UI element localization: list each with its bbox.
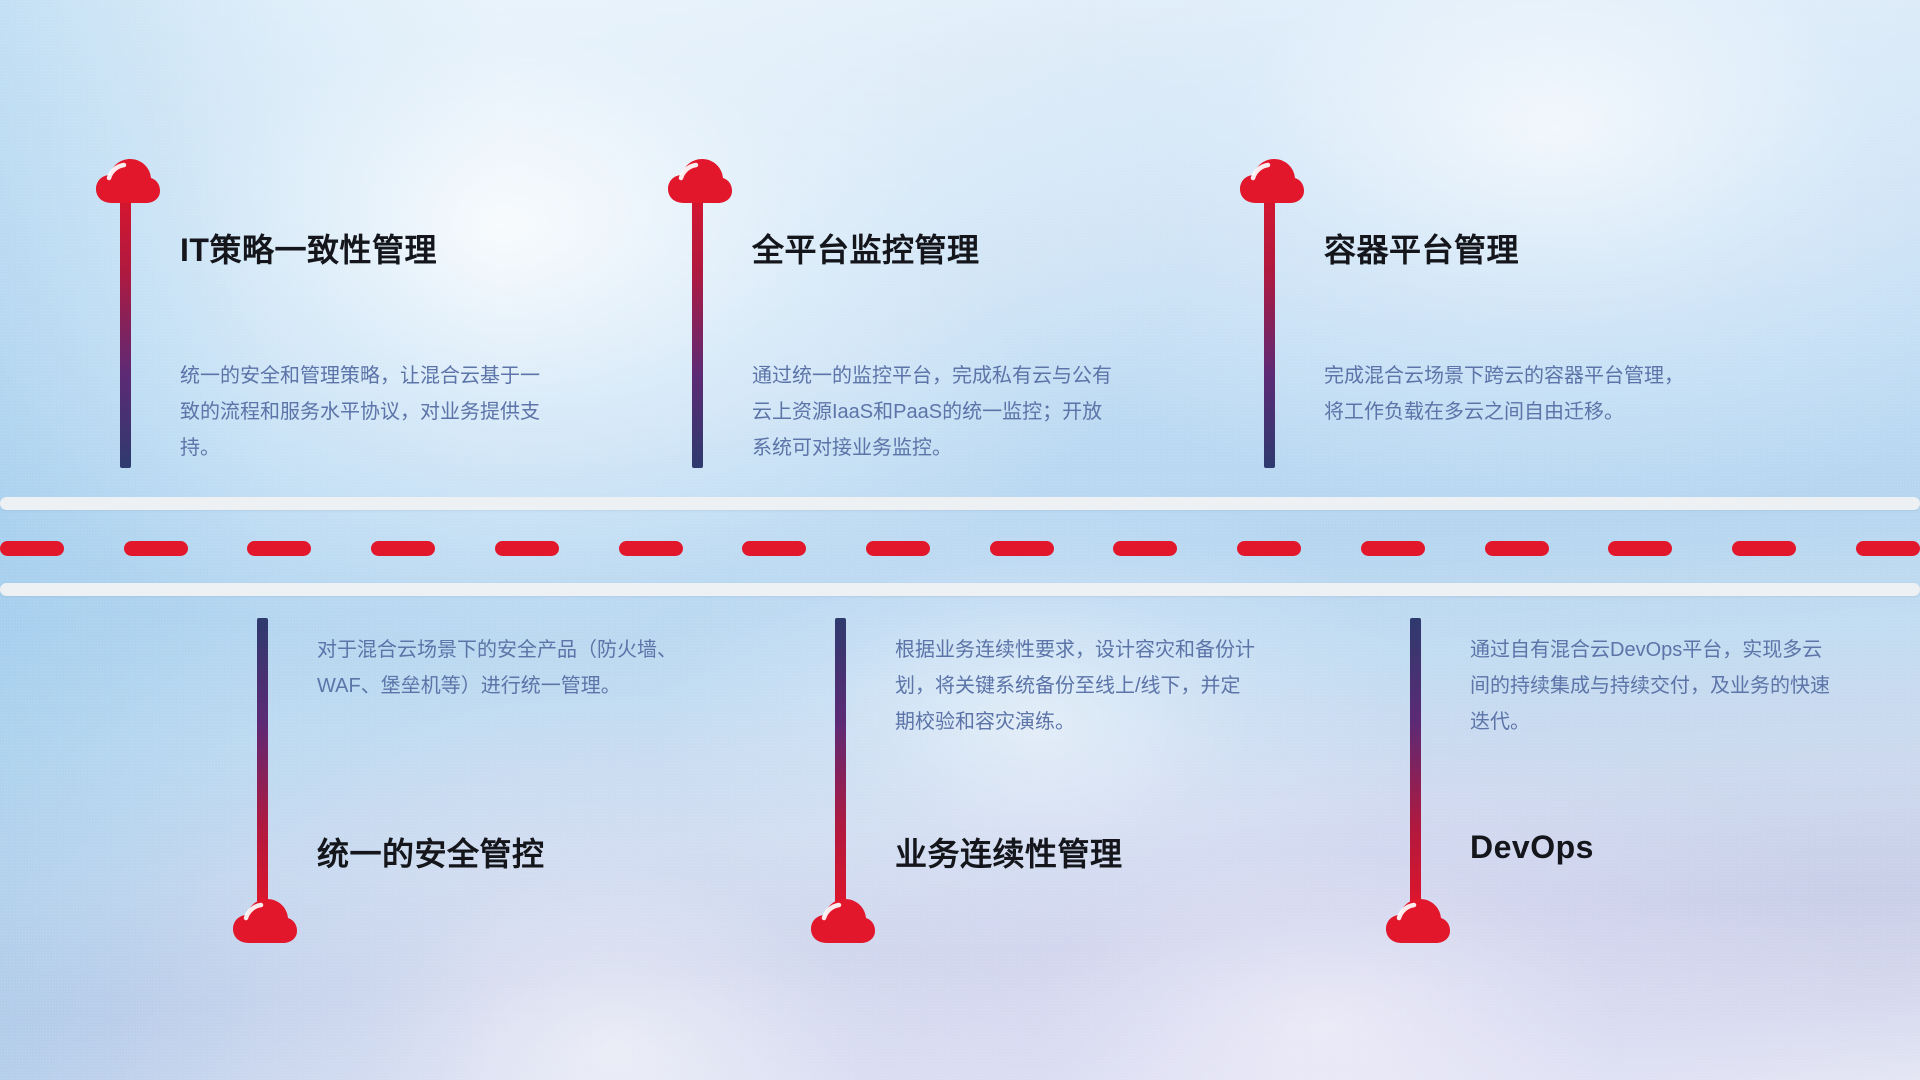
card-title-devops: DevOps [1470, 829, 1594, 866]
pole-it-policy-consistency [120, 178, 131, 468]
card-body-it-policy-consistency: 统一的安全和管理策略，让混合云基于一致的流程和服务水平协议，对业务提供支持。 [180, 358, 540, 466]
card-body-devops: 通过自有混合云DevOps平台，实现多云间的持续集成与持续交付，及业务的快速迭代… [1470, 632, 1830, 740]
road-dash [1608, 541, 1672, 556]
pole-devops [1410, 618, 1421, 908]
cloud-marker-icon-unified-security-control [232, 898, 298, 946]
road-center-dashed-line [0, 541, 1920, 556]
card-body-business-continuity: 根据业务连续性要求，设计容灾和备份计划，将关键系统备份至线上/线下，并定期校验和… [895, 632, 1255, 740]
infographic-canvas: IT策略一致性管理 统一的安全和管理策略，让混合云基于一致的流程和服务水平协议，… [0, 0, 1920, 1080]
card-title-full-platform-monitoring: 全平台监控管理 [752, 225, 980, 271]
card-title-unified-security-control: 统一的安全管控 [317, 829, 545, 875]
pole-full-platform-monitoring [692, 178, 703, 468]
road-dash [124, 541, 188, 556]
road-dash [990, 541, 1054, 556]
card-title-business-continuity: 业务连续性管理 [895, 829, 1123, 875]
road-edge-line-top [0, 497, 1920, 510]
road-dash [619, 541, 683, 556]
cloud-marker-icon-it-policy-consistency [95, 158, 161, 206]
road-dash [1732, 541, 1796, 556]
card-body-container-platform: 完成混合云场景下跨云的容器平台管理，将工作负载在多云之间自由迁移。 [1324, 358, 1684, 430]
card-body-unified-security-control: 对于混合云场景下的安全产品（防火墙、WAF、堡垒机等）进行统一管理。 [317, 632, 677, 704]
road-dash [1361, 541, 1425, 556]
road-dash [742, 541, 806, 556]
road-dash [247, 541, 311, 556]
road-dash [866, 541, 930, 556]
road-dash [1485, 541, 1549, 556]
pole-business-continuity [835, 618, 846, 908]
road-edge-line-bottom [0, 583, 1920, 596]
road-dash [1237, 541, 1301, 556]
pole-container-platform [1264, 178, 1275, 468]
road-dash [371, 541, 435, 556]
road-dash [1113, 541, 1177, 556]
road-dash [1856, 541, 1920, 556]
card-body-full-platform-monitoring: 通过统一的监控平台，完成私有云与公有云上资源IaaS和PaaS的统一监控；开放系… [752, 358, 1112, 466]
cloud-marker-icon-full-platform-monitoring [667, 158, 733, 206]
cloud-marker-icon-devops [1385, 898, 1451, 946]
card-title-container-platform: 容器平台管理 [1324, 225, 1519, 271]
road-dash [495, 541, 559, 556]
pole-unified-security-control [257, 618, 268, 908]
card-title-it-policy-consistency: IT策略一致性管理 [180, 225, 437, 271]
cloud-marker-icon-container-platform [1239, 158, 1305, 206]
cloud-marker-icon-business-continuity [810, 898, 876, 946]
road-dash [0, 541, 64, 556]
